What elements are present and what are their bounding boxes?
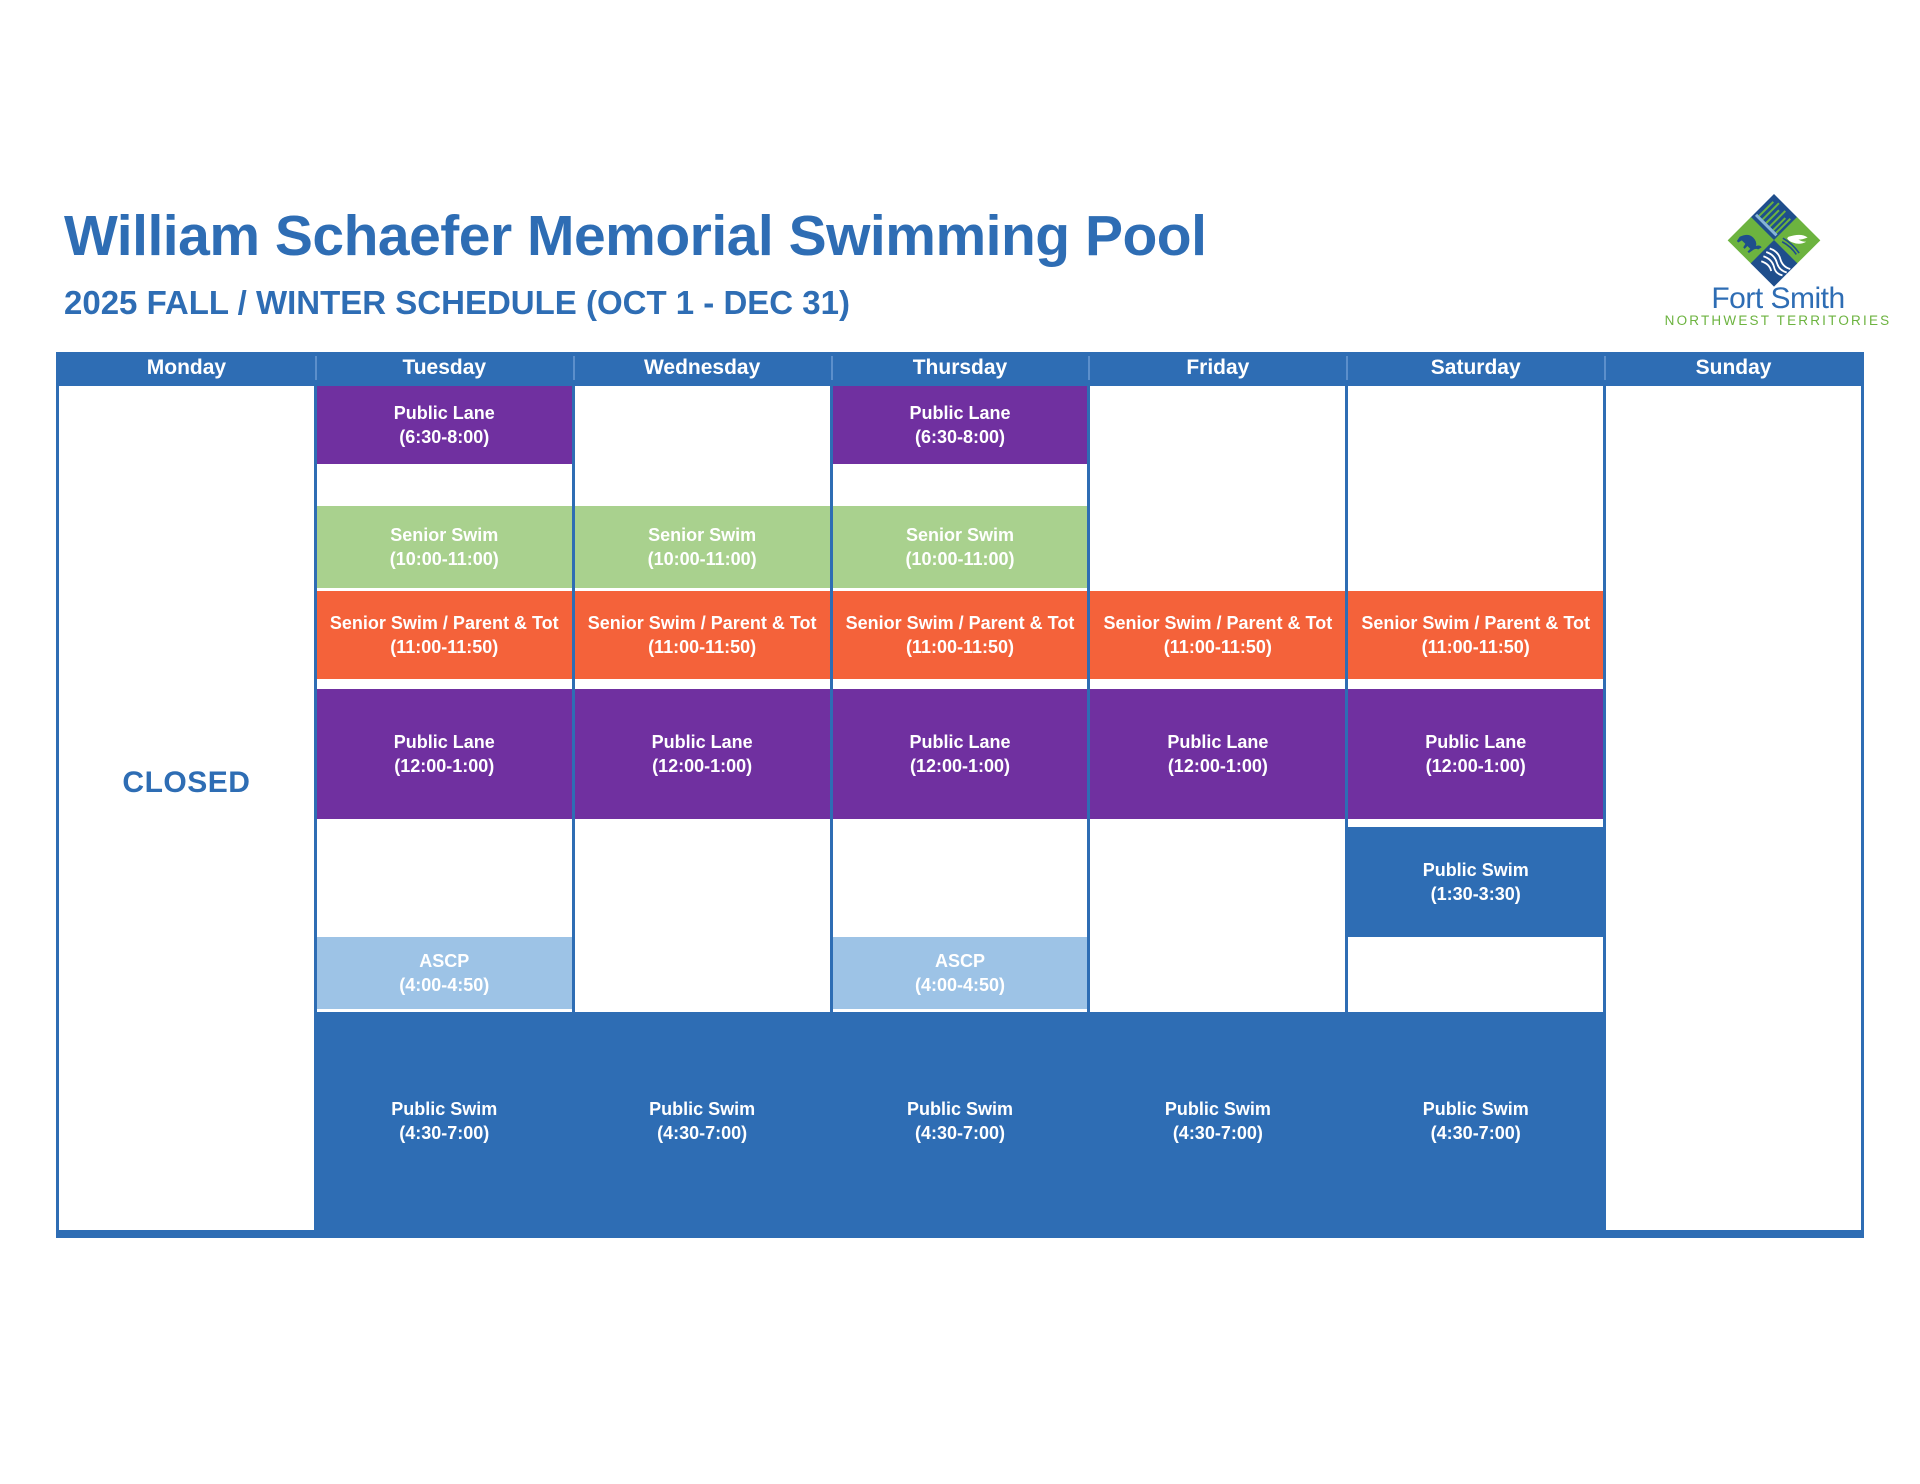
schedule-block-time: (12:00-1:00) — [910, 754, 1010, 778]
schedule-block-time: (6:30-8:00) — [399, 425, 489, 449]
schedule-block-label: Public Lane — [394, 401, 495, 425]
page-title: William Schaefer Memorial Swimming Pool — [64, 208, 1206, 265]
schedule-block-time: (6:30-8:00) — [915, 425, 1005, 449]
schedule-block-label: Senior Swim / Parent & Tot — [846, 611, 1075, 635]
schedule-block-time: (11:00-11:50) — [1164, 635, 1272, 659]
schedule-block-label: Senior Swim / Parent & Tot — [330, 611, 559, 635]
schedule-block-time: (11:00-11:50) — [390, 635, 498, 659]
schedule-block-time: (10:00-11:00) — [648, 547, 757, 571]
schedule-block[interactable]: ASCP(4:00-4:50) — [317, 937, 572, 1009]
schedule-block-label: Public Swim — [1423, 858, 1529, 882]
day-column-monday: CLOSED — [59, 386, 314, 1230]
schedule-block-time: (4:00-4:50) — [399, 973, 489, 997]
schedule-block-time: (4:30-7:00) — [1431, 1121, 1521, 1145]
schedule-block-label: Public Lane — [909, 401, 1010, 425]
schedule-block-label: ASCP — [419, 949, 469, 973]
schedule-block[interactable]: Senior Swim(10:00-11:00) — [833, 506, 1088, 588]
schedule-block-label: Public Lane — [394, 730, 495, 754]
schedule-block-time: (4:30-7:00) — [657, 1121, 747, 1145]
schedule-block[interactable]: Senior Swim / Parent & Tot(11:00-11:50) — [833, 591, 1088, 679]
schedule-block-label: Senior Swim — [648, 523, 756, 547]
day-header-separator — [1088, 356, 1090, 380]
schedule-block-time: (11:00-11:50) — [906, 635, 1014, 659]
day-column-tuesday: Public Lane(6:30-8:00)Senior Swim(10:00-… — [317, 386, 572, 1230]
schedule-block-time: (12:00-1:00) — [394, 754, 494, 778]
schedule-block-label: Public Lane — [909, 730, 1010, 754]
schedule-block-time: (4:30-7:00) — [915, 1121, 1005, 1145]
schedule-block[interactable]: Senior Swim / Parent & Tot(11:00-11:50) — [575, 591, 830, 679]
schedule-block[interactable]: Public Swim(4:30-7:00) — [317, 1012, 572, 1230]
day-header-separator — [1604, 356, 1606, 380]
schedule-block[interactable]: Public Lane(12:00-1:00) — [833, 689, 1088, 819]
schedule-block[interactable]: Senior Swim(10:00-11:00) — [575, 506, 830, 588]
schedule-block-label: Senior Swim / Parent & Tot — [588, 611, 817, 635]
day-column-friday: Senior Swim / Parent & Tot(11:00-11:50)P… — [1090, 386, 1345, 1230]
day-header-saturday: Saturday — [1348, 352, 1603, 384]
fort-smith-logo: Fort Smith NORTHWEST TERRITORIES — [1658, 188, 1898, 338]
schedule-block[interactable]: Public Lane(12:00-1:00) — [317, 689, 572, 819]
schedule-block[interactable]: Public Swim(1:30-3:30) — [1348, 827, 1603, 937]
schedule-block-time: (4:00-4:50) — [915, 973, 1005, 997]
schedule-block[interactable]: Public Swim(4:30-7:00) — [575, 1012, 830, 1230]
schedule-block-label: Senior Swim / Parent & Tot — [1103, 611, 1332, 635]
schedule-block[interactable]: Public Swim(4:30-7:00) — [1090, 1012, 1345, 1230]
schedule-block[interactable]: Senior Swim / Parent & Tot(11:00-11:50) — [317, 591, 572, 679]
schedule-block[interactable]: Senior Swim / Parent & Tot(11:00-11:50) — [1348, 591, 1603, 679]
schedule-block[interactable]: Public Lane(12:00-1:00) — [1348, 689, 1603, 819]
page-header: William Schaefer Memorial Swimming Pool … — [64, 190, 1864, 350]
diamond-quadrants-icon — [1718, 188, 1830, 288]
day-header-wednesday: Wednesday — [575, 352, 830, 384]
schedule-block[interactable]: Public Swim(4:30-7:00) — [833, 1012, 1088, 1230]
schedule-block-time: (11:00-11:50) — [648, 635, 756, 659]
schedule-block-label: ASCP — [935, 949, 985, 973]
schedule-block-label: Public Swim — [1423, 1097, 1529, 1121]
schedule-grid: MondayTuesdayWednesdayThursdayFridaySatu… — [56, 352, 1864, 1238]
schedule-block[interactable]: ASCP(4:00-4:50) — [833, 937, 1088, 1009]
schedule-block-label: Public Swim — [907, 1097, 1013, 1121]
schedule-page: William Schaefer Memorial Swimming Pool … — [0, 0, 1920, 1484]
schedule-block-label: Senior Swim — [390, 523, 498, 547]
day-column-thursday: Public Lane(6:30-8:00)Senior Swim(10:00-… — [833, 386, 1088, 1230]
schedule-block[interactable]: Public Lane(6:30-8:00) — [833, 386, 1088, 464]
schedule-block[interactable]: Public Lane(6:30-8:00) — [317, 386, 572, 464]
schedule-block[interactable]: Public Lane(12:00-1:00) — [1090, 689, 1345, 819]
schedule-block[interactable]: Senior Swim(10:00-11:00) — [317, 506, 572, 588]
day-header-row: MondayTuesdayWednesdayThursdayFridaySatu… — [56, 352, 1864, 384]
day-header-monday: Monday — [59, 352, 314, 384]
schedule-block-time: (1:30-3:30) — [1431, 882, 1521, 906]
schedule-block-label: Public Swim — [649, 1097, 755, 1121]
day-header-tuesday: Tuesday — [317, 352, 572, 384]
page-subtitle: 2025 FALL / WINTER SCHEDULE (OCT 1 - DEC… — [64, 286, 850, 319]
schedule-block[interactable]: Public Lane(12:00-1:00) — [575, 689, 830, 819]
day-column-saturday: Senior Swim / Parent & Tot(11:00-11:50)P… — [1348, 386, 1603, 1230]
schedule-block-label: Senior Swim / Parent & Tot — [1361, 611, 1590, 635]
schedule-block-label: Public Lane — [652, 730, 753, 754]
day-column-sunday — [1606, 386, 1861, 1230]
day-column-wednesday: Senior Swim(10:00-11:00)Senior Swim / Pa… — [575, 386, 830, 1230]
logo-wordmark: Fort Smith — [1658, 284, 1898, 314]
schedule-block-time: (12:00-1:00) — [1168, 754, 1268, 778]
schedule-block-label: Public Lane — [1167, 730, 1268, 754]
schedule-block-label: Public Lane — [1425, 730, 1526, 754]
schedule-block-time: (12:00-1:00) — [652, 754, 752, 778]
schedule-block-time: (10:00-11:00) — [390, 547, 499, 571]
schedule-block-time: (11:00-11:50) — [1422, 635, 1530, 659]
schedule-block-time: (10:00-11:00) — [905, 547, 1014, 571]
day-header-separator — [831, 356, 833, 380]
schedule-block[interactable]: Senior Swim / Parent & Tot(11:00-11:50) — [1090, 591, 1345, 679]
logo-tagline: NORTHWEST TERRITORIES — [1658, 314, 1898, 328]
day-header-sunday: Sunday — [1606, 352, 1861, 384]
day-header-thursday: Thursday — [833, 352, 1088, 384]
schedule-block-label: Senior Swim — [906, 523, 1014, 547]
schedule-block-time: (4:30-7:00) — [1173, 1121, 1263, 1145]
schedule-block-label: Public Swim — [391, 1097, 497, 1121]
schedule-block[interactable]: Public Swim(4:30-7:00) — [1348, 1012, 1603, 1230]
schedule-block-time: (12:00-1:00) — [1426, 754, 1526, 778]
closed-label: CLOSED — [59, 766, 314, 800]
schedule-block-label: Public Swim — [1165, 1097, 1271, 1121]
day-header-separator — [1346, 356, 1348, 380]
schedule-block-time: (4:30-7:00) — [399, 1121, 489, 1145]
day-header-friday: Friday — [1090, 352, 1345, 384]
day-header-separator — [315, 356, 317, 380]
day-header-separator — [573, 356, 575, 380]
